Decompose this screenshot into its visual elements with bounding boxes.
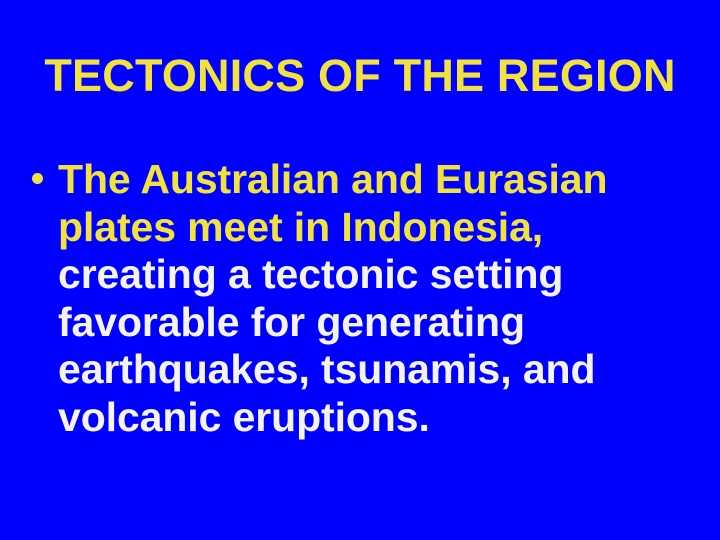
slide-title: TECTONICS OF THE REGION: [0, 52, 720, 99]
bullet-line-4: favorable for generating: [58, 299, 650, 347]
bullet-marker: [30, 156, 58, 184]
bullet-list-item: The Australian and Eurasian plates meet …: [30, 156, 650, 441]
bullet-text: The Australian and Eurasian plates meet …: [58, 156, 650, 441]
bullet-line-6: volcanic eruptions.: [58, 394, 650, 442]
bullet-line-3: creating a tectonic setting: [58, 251, 650, 299]
bullet-line-2: plates meet in Indonesia,: [58, 204, 650, 252]
slide-body: The Australian and Eurasian plates meet …: [30, 156, 650, 441]
bullet-line-5: earthquakes, tsunamis, and: [58, 346, 650, 394]
bullet-line-1: The Australian and Eurasian: [58, 156, 650, 204]
presentation-slide: TECTONICS OF THE REGION The Australian a…: [0, 0, 720, 540]
bullet-dot-icon: [32, 173, 43, 184]
